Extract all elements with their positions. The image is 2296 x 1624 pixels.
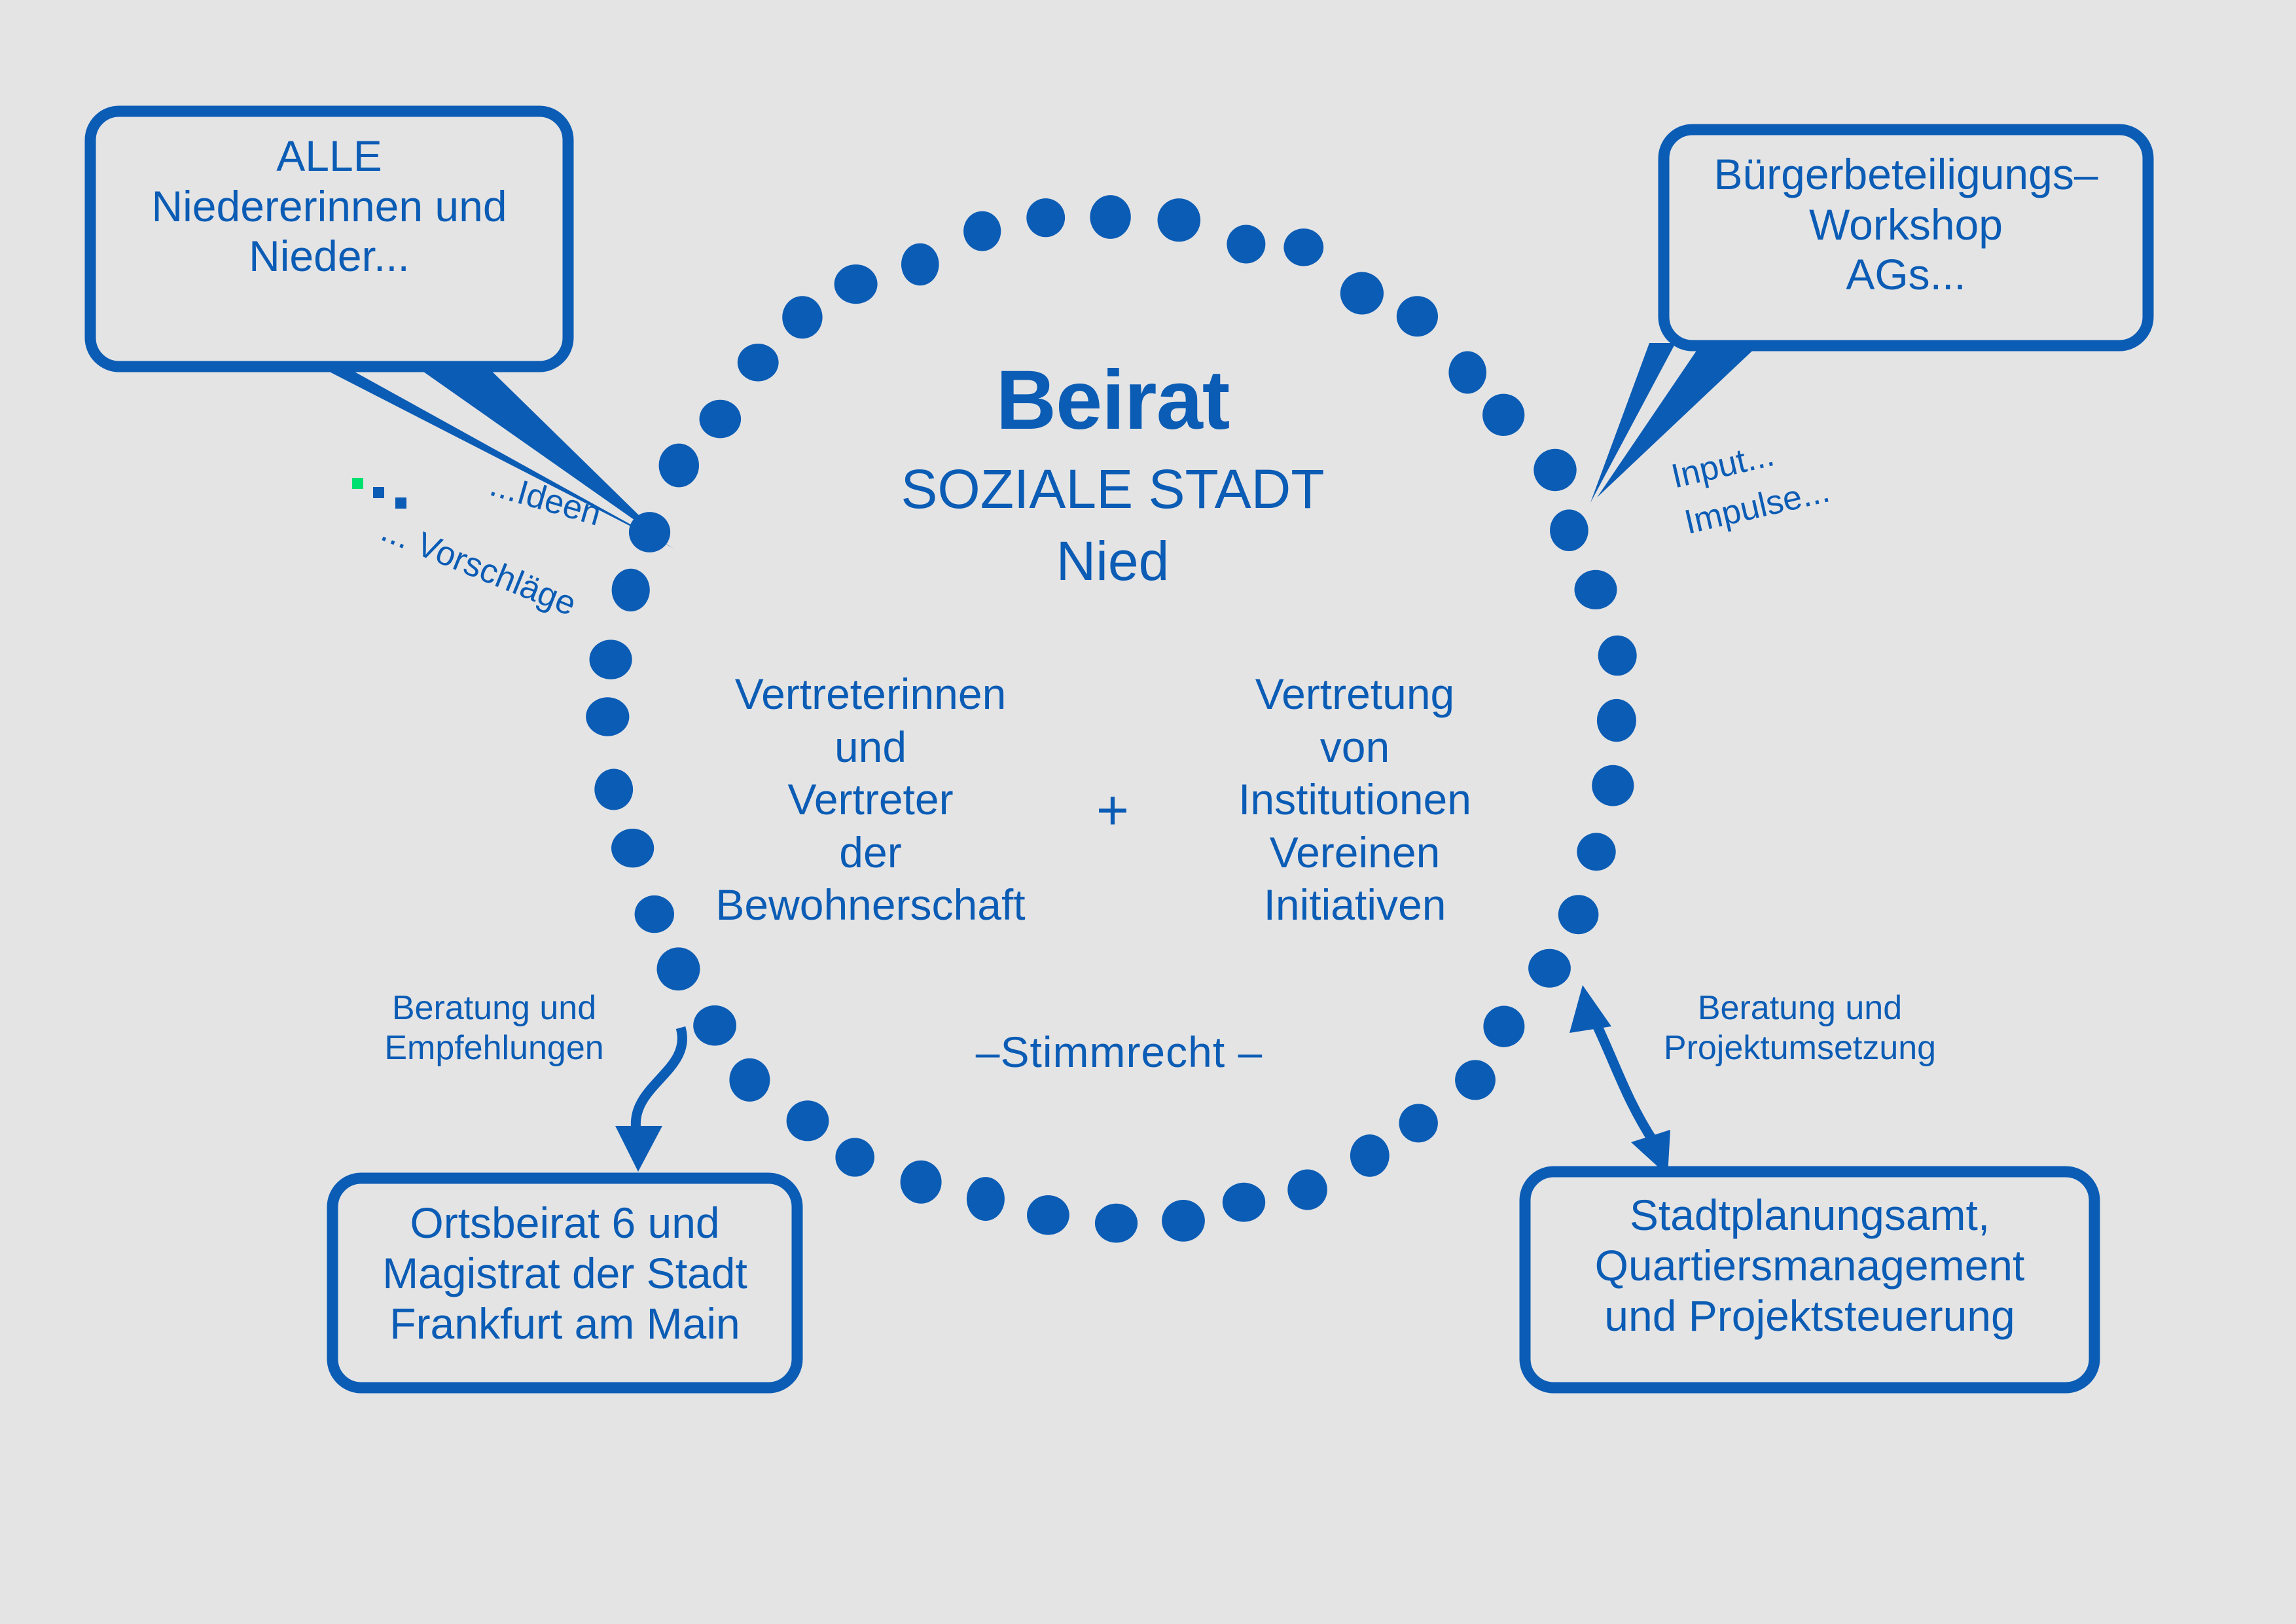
circle-dot <box>1592 765 1634 806</box>
circle-dot <box>1482 394 1524 436</box>
circle-dot <box>729 1058 770 1102</box>
circle-dot <box>635 895 674 933</box>
circle-dot <box>1158 198 1201 242</box>
circle-dot <box>1575 570 1617 609</box>
center-right-column: Vertretung von Institutionen Vereinen In… <box>1178 668 1532 931</box>
circle-dot <box>1597 699 1636 742</box>
center-title: Beirat <box>785 353 1440 448</box>
circle-dot <box>1026 198 1065 237</box>
circle-dot <box>1223 1183 1265 1222</box>
circle-dot <box>1397 296 1438 336</box>
circle-dot <box>1340 272 1384 315</box>
circle-dot <box>835 1138 874 1176</box>
circle-dot <box>1227 225 1265 264</box>
circle-dot <box>963 211 1001 251</box>
circle-dot <box>901 244 939 286</box>
circle-dot <box>1550 509 1588 551</box>
circle-dot <box>693 1005 736 1046</box>
circle-dot <box>901 1161 942 1204</box>
circle-dot <box>659 444 699 488</box>
circle-dot <box>1558 895 1599 934</box>
center-left-column: Vertreterinnen und Vertreter der Bewohne… <box>694 668 1047 931</box>
circle-dot <box>1283 228 1323 266</box>
marker-square-blue-1 <box>373 487 384 498</box>
center-footer-stimmrecht: –Stimmrecht – <box>890 1028 1348 1077</box>
circle-dot <box>586 697 629 736</box>
box-stadtplanungsamt-text: Stadtplanungsamt, Quartiersmanagement un… <box>1525 1190 2094 1342</box>
center-subtitle-line2: Nied <box>785 530 1440 592</box>
marker-square-blue-2 <box>395 497 406 509</box>
circle-dot <box>967 1177 1005 1221</box>
circle-dot <box>1598 636 1637 676</box>
circle-dot <box>590 640 632 679</box>
circle-dot <box>611 829 654 867</box>
marker-square-green <box>352 478 363 489</box>
circle-dot <box>594 769 633 810</box>
circle-dot <box>834 264 878 304</box>
circle-dot <box>1448 352 1486 394</box>
circle-dot <box>1399 1104 1438 1142</box>
circle-dot <box>1090 195 1130 239</box>
circle-dot <box>787 1100 829 1141</box>
box-ortsbeirat-text: Ortsbeirat 6 und Magistrat der Stadt Fra… <box>332 1198 797 1350</box>
circle-dot <box>1534 449 1576 491</box>
circle-dot <box>1577 833 1615 871</box>
circle-dot <box>1483 1006 1524 1047</box>
circle-dot <box>738 344 779 382</box>
circle-dot <box>1162 1200 1205 1242</box>
diagram-canvas: .stroke-blue{fill:none;stroke:#0B5CB5;st… <box>0 0 2296 1624</box>
circle-dot <box>782 296 822 338</box>
circle-dot <box>700 400 742 439</box>
circle-dot <box>1350 1134 1390 1177</box>
bubble-participation-text: Bürgerbeteiligungs– Workshop AGs... <box>1664 149 2148 300</box>
bubble-citizens-text: ALLE Niedererinnen und Nieder... <box>90 131 568 281</box>
circle-dot <box>612 569 650 611</box>
arrow-label-beratung-projektumsetzung: Beratung und Projektumsetzung <box>1643 988 1957 1069</box>
circle-dot <box>1095 1204 1138 1243</box>
circle-dot <box>1528 949 1571 988</box>
center-plus-operator: + <box>1067 779 1158 842</box>
circle-dot <box>1027 1195 1069 1235</box>
circle-dot <box>657 947 700 990</box>
center-subtitle-line1: SOZIALE STADT <box>785 458 1440 520</box>
arrow-label-beratung-empfehlungen: Beratung und Empfehlungen <box>353 988 635 1069</box>
circle-dot <box>1287 1170 1327 1210</box>
circle-dot <box>1455 1060 1496 1100</box>
